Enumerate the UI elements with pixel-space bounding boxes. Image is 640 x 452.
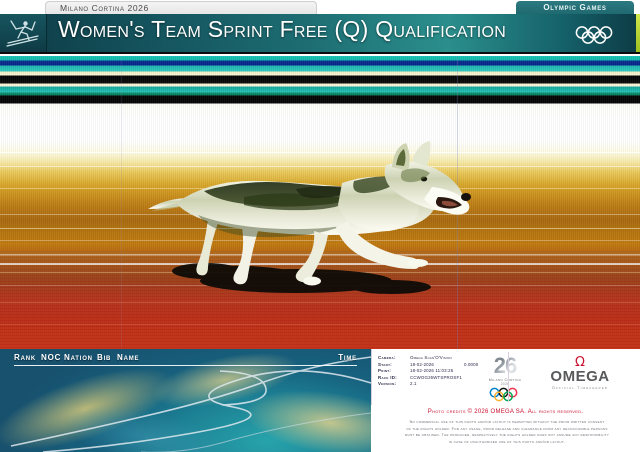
olympic-rings-icon [470, 387, 540, 407]
legal-line: must be obtained. The producer, respecti… [378, 432, 636, 439]
title-bar: Women's Team Sprint Free (Q) Qualificati… [0, 14, 640, 52]
cross-country-skiing-pictogram [0, 14, 47, 52]
results-table-header: Rank NOC Nation Bib Name Time [0, 353, 371, 369]
print-value: 18-02-2026 11:03:26 [410, 368, 453, 373]
column-header-bib: Bib [97, 353, 111, 362]
omega-tagline: Official Timekeeper [525, 385, 635, 390]
olympic-games-tab-label: Olympic Games [516, 3, 634, 12]
print-label: Print: [378, 368, 391, 373]
column-header-rank: Rank [14, 353, 36, 362]
legal-line: in case of unauthorized use of this phot… [378, 439, 636, 446]
results-header-rule [14, 365, 357, 366]
column-header-nation: Nation [64, 353, 93, 362]
legal-line: of the rights holder. For any usage, pri… [378, 426, 636, 433]
column-header-noc: NOC [41, 353, 61, 362]
running-wolf-subject [146, 131, 476, 321]
page-header: Milano Cortina 2026 Olympic Games [0, 0, 640, 56]
legal-line: No commercial use of this photo and/or l… [378, 419, 636, 426]
legal-notice: No commercial use of this photo and/or l… [378, 419, 636, 445]
camera-value: Omega Scan'O'Vision [410, 355, 452, 360]
start-label: Start: [378, 362, 392, 367]
camera-label: Camera: [378, 355, 396, 360]
race-id-value: CCWOG26WTSPROSF1 [410, 375, 462, 380]
info-divider [371, 349, 372, 405]
photo-credits: Photo credits © 2026 OMEGA SA. All right… [371, 409, 640, 415]
start-value: 18-02-2026 [410, 362, 434, 367]
version-value: 2.1 [410, 381, 417, 386]
logo-divider [508, 352, 509, 402]
omega-wordmark: OMEGA [525, 369, 635, 384]
page-title: Women's Team Sprint Free (Q) Qualificati… [58, 16, 506, 43]
column-header-name: Name [117, 353, 139, 362]
race-id-label: Race ID: [378, 375, 397, 380]
photofinish-page: Milano Cortina 2026 Olympic Games [0, 0, 640, 452]
version-label: Version: [378, 381, 396, 386]
column-header-time: Time [338, 353, 357, 362]
event-tab-label: Milano Cortina 2026 [60, 3, 149, 13]
results-table-panel: Rank NOC Nation Bib Name Time [0, 349, 371, 452]
photofinish-image [0, 56, 640, 349]
omega-logo: Ω OMEGA Official Timekeeper [525, 357, 635, 390]
olympic-rings-icon [574, 25, 618, 50]
